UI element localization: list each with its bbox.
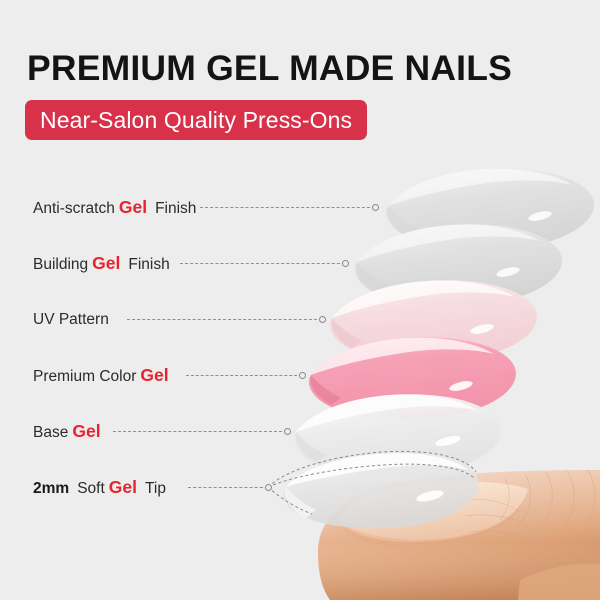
callout-2mm-soft-gel-tip: 2mmSoftGelTip (33, 476, 166, 500)
callout-label-part: Tip (141, 477, 166, 501)
callout-label-part: UV Pattern (33, 308, 109, 332)
leader-endpoint-dot (319, 316, 326, 323)
leader-endpoint-dot (299, 372, 306, 379)
callout-label-part: Gel (88, 251, 124, 275)
callout-label: Anti-scratchGelFinish (33, 195, 196, 221)
layer-premium-color-gel (309, 337, 516, 420)
callout-anti-scratch-gel-finish: Anti-scratchGelFinish (33, 196, 196, 220)
callout-label-part: Gel (68, 419, 104, 443)
callout-label-part: Premium Color (33, 365, 136, 389)
layer-building-gel-finish (355, 224, 562, 307)
callout-label: 2mmSoftGelTip (33, 475, 166, 501)
callout-label-part: Finish (124, 253, 169, 277)
callout-base-gel: BaseGel (33, 420, 105, 444)
subtitle-badge: Near-Salon Quality Press-Ons (25, 100, 367, 140)
layer-soft-gel-tip (268, 451, 479, 528)
layer-uv-pattern (330, 280, 537, 363)
page-title: PREMIUM GEL MADE NAILS (27, 48, 512, 88)
callout-label-part: Soft (73, 477, 105, 501)
nail-layer-illustration (0, 0, 600, 600)
leader-line (186, 375, 302, 377)
layer-base-gel (294, 394, 501, 477)
callout-label-part: Gel (115, 195, 151, 219)
leader-line (188, 487, 268, 489)
callout-label: BuildingGelFinish (33, 251, 170, 277)
subtitle-badge-label: Near-Salon Quality Press-Ons (40, 108, 352, 132)
callout-label: Premium ColorGel (33, 363, 173, 389)
callout-label-part: Gel (136, 363, 172, 387)
leader-endpoint-dot (342, 260, 349, 267)
callout-label-part: Anti-scratch (33, 197, 115, 221)
leader-endpoint-dot (265, 484, 272, 491)
callout-building-gel-finish: BuildingGelFinish (33, 252, 170, 276)
callout-label-part: Finish (151, 197, 196, 221)
callout-label-part: Building (33, 253, 88, 277)
callout-uv-pattern: UV Pattern (33, 308, 109, 332)
leader-line (180, 263, 345, 265)
callout-label-part: Gel (105, 475, 141, 499)
layer-anti-scratch-gel-finish (386, 168, 594, 251)
leader-line (127, 319, 322, 321)
callout-label-part: Base (33, 421, 68, 445)
leader-line (200, 207, 375, 209)
callout-label: UV Pattern (33, 308, 109, 332)
fingertip (318, 470, 600, 600)
leader-line (113, 431, 287, 433)
infographic-canvas: PREMIUM GEL MADE NAILS Near-Salon Qualit… (0, 0, 600, 600)
leader-endpoint-dot (284, 428, 291, 435)
callout-label: BaseGel (33, 419, 105, 445)
callout-label-part: 2mm (33, 477, 73, 501)
callout-premium-color-gel: Premium ColorGel (33, 364, 173, 388)
leader-endpoint-dot (372, 204, 379, 211)
